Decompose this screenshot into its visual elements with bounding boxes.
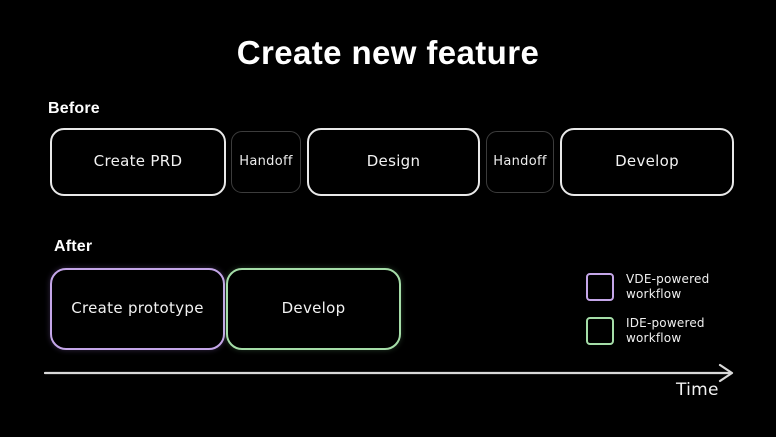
section-label-after: After [54,238,92,256]
flow-box-develop-before: Develop [560,128,734,196]
legend-item-label: IDE-powered workflow [626,316,705,346]
legend-swatch-icon [586,317,614,345]
flow-box-develop-after: Develop [226,268,401,350]
time-axis-arrow-icon [44,361,736,387]
legend-swatch-icon [586,273,614,301]
flow-box-handoff-2: Handoff [486,131,554,193]
flow-box-create-prototype: Create prototype [50,268,225,350]
legend-item-ide: IDE-powered workflow [586,316,766,346]
slide-canvas: Create new feature Before Create PRD Han… [0,0,776,437]
section-label-before: Before [48,100,100,118]
time-axis-label: Time [676,380,719,400]
flow-box-create-prd: Create PRD [50,128,226,196]
flow-box-label: Handoff [493,155,546,170]
flow-box-handoff-1: Handoff [231,131,301,193]
page-title: Create new feature [0,34,776,72]
flow-box-label: Handoff [239,155,292,170]
flow-box-label: Develop [282,300,346,317]
legend-item-vde: VDE-powered workflow [586,272,766,302]
flow-box-label: Develop [615,153,679,170]
legend: VDE-powered workflow IDE-powered workflo… [586,272,766,360]
flow-box-design: Design [307,128,480,196]
flow-box-label: Design [367,153,421,170]
flow-box-label: Create PRD [94,153,183,170]
legend-item-label: VDE-powered workflow [626,272,709,302]
flow-box-label: Create prototype [71,300,204,317]
